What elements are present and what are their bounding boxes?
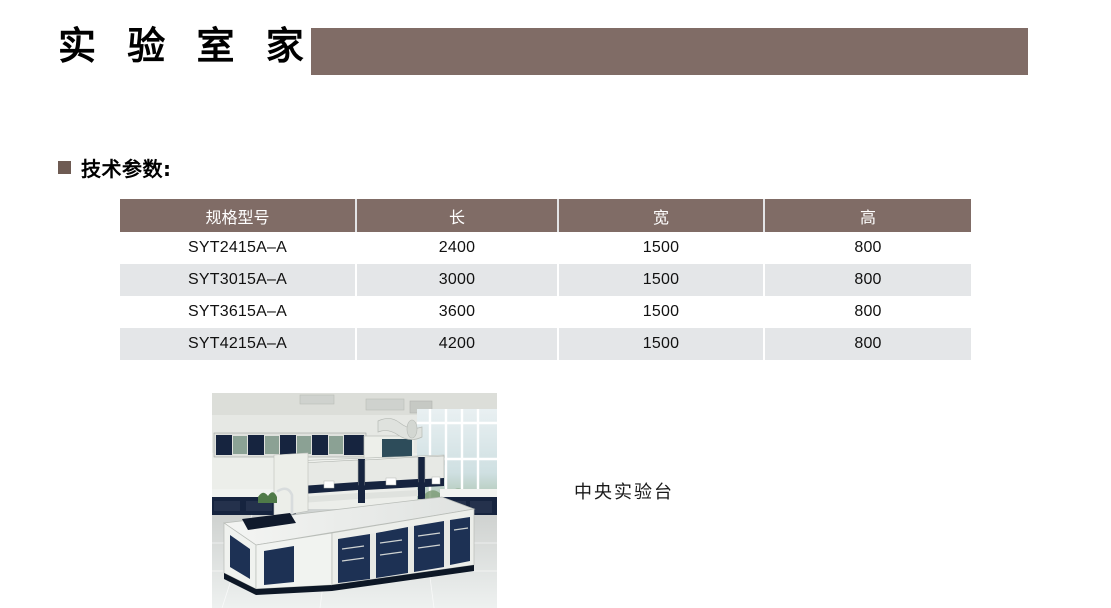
table-row: SYT3615A–A 3600 1500 800 <box>120 296 971 328</box>
cell-width: 1500 <box>559 232 765 264</box>
central-lab-bench-photo <box>212 393 497 608</box>
column-header-length: 长 <box>357 199 559 232</box>
table-row: SYT4215A–A 4200 1500 800 <box>120 328 971 360</box>
table-body: SYT2415A–A 2400 1500 800 SYT3015A–A 3000… <box>120 232 971 360</box>
cell-width: 1500 <box>559 264 765 296</box>
cell-height: 800 <box>765 264 971 296</box>
table-header: 规格型号 长 宽 高 <box>120 199 971 232</box>
title-row: 实 验 室 家 具 <box>0 0 1111 100</box>
cell-height: 800 <box>765 232 971 264</box>
cell-model: SYT3015A–A <box>120 264 357 296</box>
section-heading: 技术参数: <box>58 153 172 182</box>
cell-width: 1500 <box>559 296 765 328</box>
table-row: SYT3015A–A 3000 1500 800 <box>120 264 971 296</box>
cell-model: SYT4215A–A <box>120 328 357 360</box>
cell-height: 800 <box>765 296 971 328</box>
cell-length: 3000 <box>357 264 559 296</box>
cell-model: SYT2415A–A <box>120 232 357 264</box>
title-accent-bar <box>311 28 1028 75</box>
table-header-row: 规格型号 长 宽 高 <box>120 199 971 232</box>
column-header-height: 高 <box>765 199 971 232</box>
cell-width: 1500 <box>559 328 765 360</box>
table-row: SYT2415A–A 2400 1500 800 <box>120 232 971 264</box>
column-header-width: 宽 <box>559 199 765 232</box>
spec-table: 规格型号 长 宽 高 SYT2415A–A 2400 1500 800 SYT3… <box>120 199 971 360</box>
section-heading-label: 技术参数: <box>81 153 172 182</box>
cell-length: 3600 <box>357 296 559 328</box>
cell-height: 800 <box>765 328 971 360</box>
cell-model: SYT3615A–A <box>120 296 357 328</box>
cell-length: 4200 <box>357 328 559 360</box>
photo-caption: 中央实验台 <box>574 478 674 504</box>
column-header-model: 规格型号 <box>120 199 357 232</box>
square-bullet-icon <box>58 161 71 174</box>
cell-length: 2400 <box>357 232 559 264</box>
